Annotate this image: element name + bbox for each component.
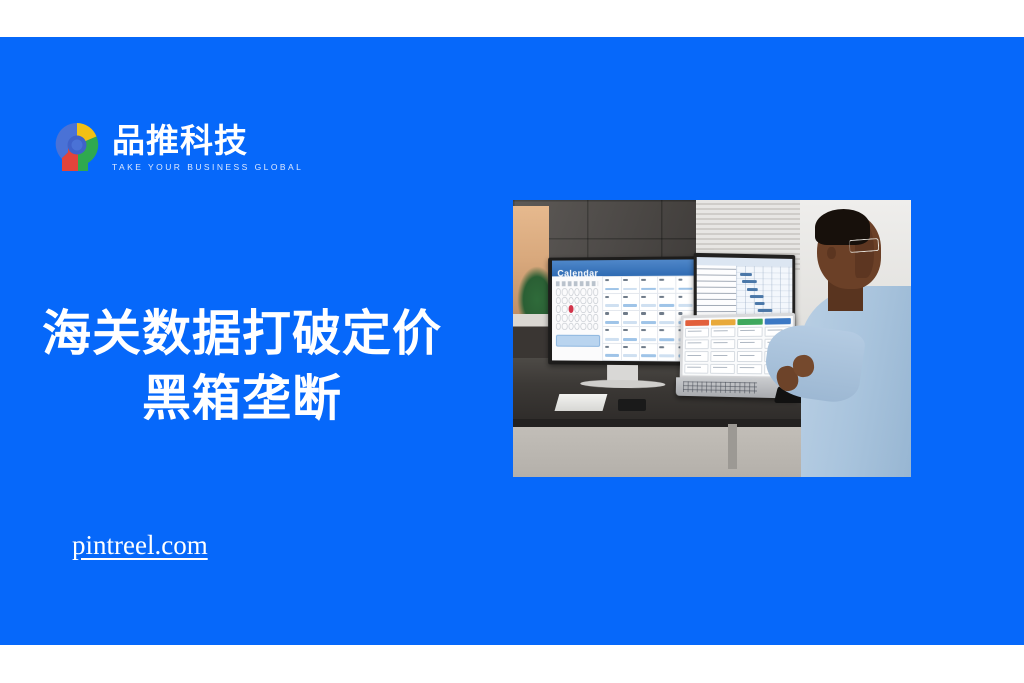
person-eyeglasses xyxy=(848,237,879,252)
kanban-column-header xyxy=(685,319,709,325)
photo-scene: Calendar xyxy=(513,200,911,477)
slide-root: 品推科技 TAKE YOUR BUSINESS GLOBAL 海关数据打破定价 … xyxy=(0,0,1024,683)
bottom-white-band xyxy=(0,645,1024,683)
hero-photo: Calendar xyxy=(513,200,911,477)
brand-logo[interactable]: 品推科技 TAKE YOUR BUSINESS GLOBAL xyxy=(50,119,303,175)
kanban-card xyxy=(737,363,763,374)
kanban-card xyxy=(737,351,763,362)
slide-canvas: 品推科技 TAKE YOUR BUSINESS GLOBAL 海关数据打破定价 … xyxy=(0,37,1024,645)
kanban-card xyxy=(737,326,763,337)
person-head xyxy=(817,214,881,289)
kanban-card xyxy=(710,339,735,349)
top-white-band xyxy=(0,0,1024,37)
monitor-left-screen: Calendar xyxy=(552,259,695,361)
person-arm xyxy=(762,321,867,406)
pintreel-logo-icon xyxy=(50,119,104,175)
kanban-card xyxy=(711,326,736,337)
kanban-column xyxy=(684,319,709,374)
kanban-card xyxy=(684,339,708,349)
laptop-keys xyxy=(683,381,757,393)
calendar-sidebar xyxy=(552,276,604,360)
website-link[interactable]: pintreel.com xyxy=(72,529,208,561)
person xyxy=(776,200,911,477)
logo-tagline: TAKE YOUR BUSINESS GLOBAL xyxy=(112,162,303,172)
kanban-column xyxy=(737,318,763,374)
kanban-card xyxy=(710,363,735,374)
kanban-card xyxy=(684,363,708,373)
kanban-card xyxy=(710,351,735,361)
kanban-card xyxy=(685,327,709,337)
mini-calendar-grid xyxy=(556,288,599,330)
kanban-column-header xyxy=(711,318,736,325)
desk-notepad xyxy=(554,394,607,411)
logo-company-name: 品推科技 xyxy=(112,124,303,159)
headline-line-1: 海关数据打破定价 xyxy=(32,301,452,366)
mini-calendar-weekdays xyxy=(556,280,599,285)
person-ear xyxy=(827,247,835,260)
calendar-sidebar-button xyxy=(556,335,601,347)
kanban-column xyxy=(710,318,736,374)
desk-glasses xyxy=(618,399,646,410)
kanban-card xyxy=(684,351,708,361)
kanban-card xyxy=(737,338,763,349)
monitor-left: Calendar xyxy=(548,256,699,365)
desk-leg xyxy=(728,424,737,468)
kanban-column-header xyxy=(737,318,762,325)
headline-line-2: 黑箱垄断 xyxy=(32,366,452,431)
page-title: 海关数据打破定价 黑箱垄断 xyxy=(32,301,452,431)
